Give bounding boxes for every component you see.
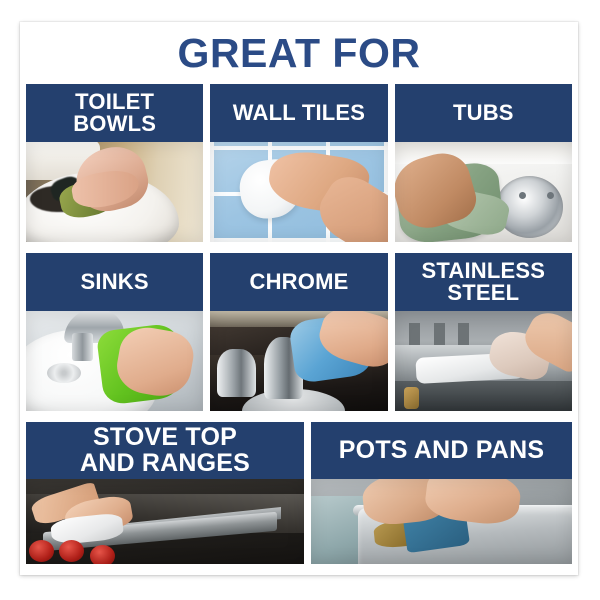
- grid-row-3: STOVE TOP AND RANGES: [26, 422, 572, 564]
- grid-row-1: TOILET BOWLS: [26, 84, 572, 242]
- tile-label-line: SINKS: [81, 271, 149, 293]
- tile-label-stainless-steel: STAINLESS STEEL: [395, 253, 572, 311]
- tile-sinks[interactable]: SINKS: [26, 253, 203, 411]
- tile-stainless-steel[interactable]: STAINLESS STEEL: [395, 253, 572, 411]
- tile-label-line: WALL TILES: [233, 102, 365, 124]
- tile-label-line: AND RANGES: [80, 449, 250, 477]
- tile-label-line: STAINLESS: [422, 258, 546, 283]
- grid-row-2: SINKS CHROME: [26, 253, 572, 411]
- tile-label-line: POTS AND PANS: [339, 438, 544, 464]
- sink-photo: [26, 311, 203, 411]
- tile-tubs[interactable]: TUBS: [395, 84, 572, 242]
- tile-wall-tiles[interactable]: WALL TILES: [210, 84, 387, 242]
- tile-toilet-bowls[interactable]: TOILET BOWLS: [26, 84, 203, 242]
- tile-label-line: CHROME: [250, 271, 349, 293]
- tile-label-wall-tiles: WALL TILES: [210, 84, 387, 142]
- tub-photo: [395, 142, 572, 242]
- tile-label-tubs: TUBS: [395, 84, 572, 142]
- tile-label-sinks: SINKS: [26, 253, 203, 311]
- tile-label-stove-top-and-ranges: STOVE TOP AND RANGES: [26, 422, 304, 479]
- tile-pots-and-pans[interactable]: POTS AND PANS: [311, 422, 572, 564]
- tile-label-chrome: CHROME: [210, 253, 387, 311]
- tile-label-line: TOILET: [75, 89, 154, 114]
- page-title: GREAT FOR: [20, 22, 578, 84]
- pots-and-pans-photo: [311, 479, 572, 564]
- tile-label-pots-and-pans: POTS AND PANS: [311, 422, 572, 479]
- stove-top-photo: [26, 479, 304, 564]
- use-case-grid: TOILET BOWLS: [20, 84, 578, 570]
- tile-stove-top-and-ranges[interactable]: STOVE TOP AND RANGES: [26, 422, 304, 564]
- tile-chrome[interactable]: CHROME: [210, 253, 387, 411]
- stainless-steel-photo: [395, 311, 572, 411]
- great-for-poster: GREAT FOR TOILET BOWLS: [20, 22, 578, 575]
- tile-label-line: STOVE TOP: [93, 423, 237, 451]
- tile-label-line: TUBS: [453, 102, 514, 124]
- chrome-photo: [210, 311, 387, 411]
- tile-label-toilet-bowls: TOILET BOWLS: [26, 84, 203, 142]
- wall-tiles-photo: [210, 142, 387, 242]
- toilet-bowl-photo: [26, 142, 203, 242]
- tile-label-line: BOWLS: [73, 111, 156, 136]
- tile-label-line: STEEL: [447, 280, 519, 305]
